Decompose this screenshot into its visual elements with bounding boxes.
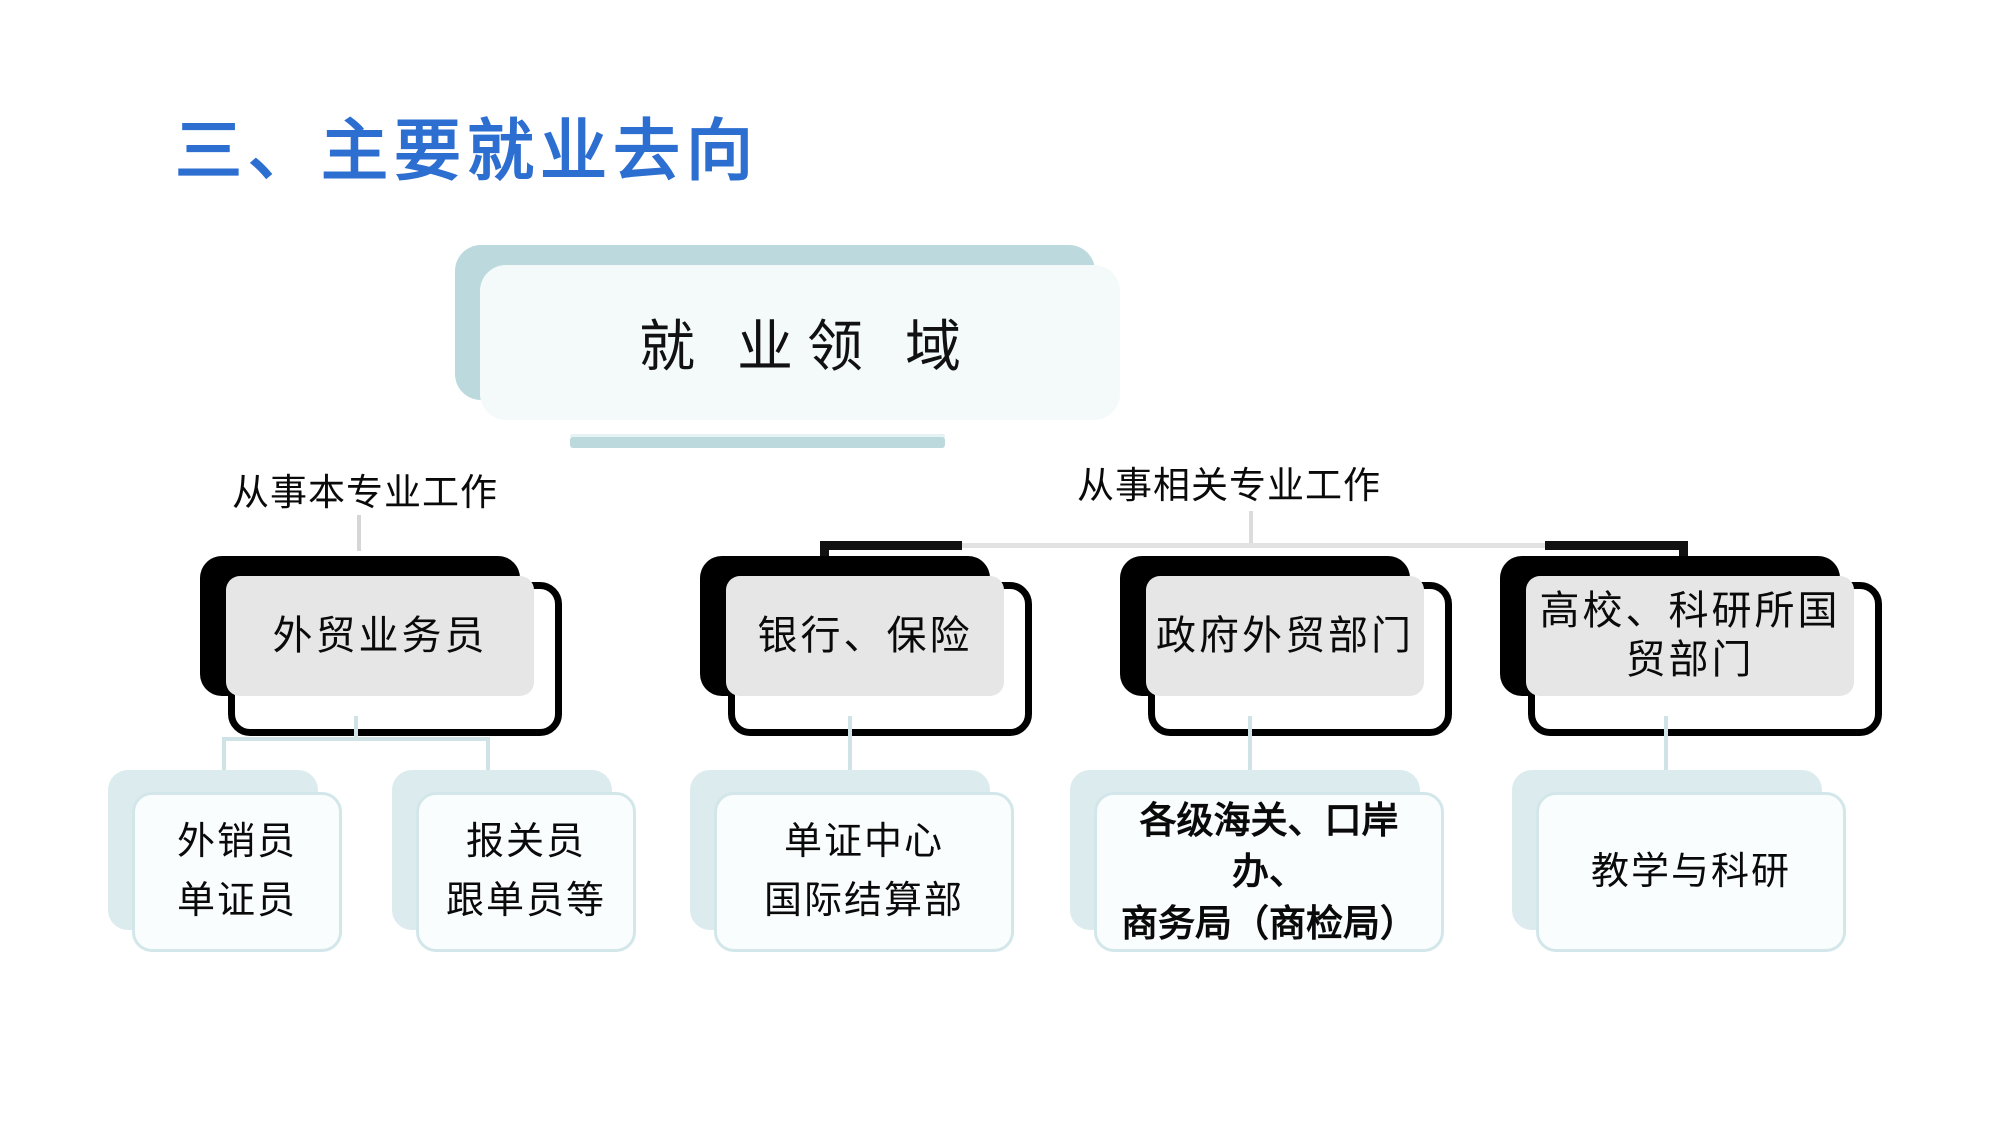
- tier2-box-body: 外销员 单证员: [132, 792, 342, 952]
- header-banner-label: 就 业领 域: [480, 265, 1120, 420]
- tier2-box-body: 单证中心 国际结算部: [714, 792, 1014, 952]
- tier2-box-body: 教学与科研: [1536, 792, 1846, 952]
- tier2-box-line1: 外销员: [177, 813, 297, 872]
- tier2-box-line1: 教学与科研: [1591, 843, 1791, 902]
- connector-drop-government: [1248, 716, 1252, 778]
- caption-related-major: 从事相关专业工作: [1077, 455, 1381, 509]
- tier2-box-line2: 国际结算部: [764, 872, 964, 931]
- connector-core-stem: [357, 515, 361, 551]
- connector-split-bar: [222, 737, 490, 741]
- slide-canvas: 三、主要就业去向 就 业领 域 从事本专业工作 从事相关专业工作 外贸业务员 银…: [0, 0, 2000, 1125]
- connector-bracket-left: [820, 541, 962, 550]
- page-title: 三、主要就业去向: [175, 97, 759, 194]
- connector-drop-bank: [848, 716, 852, 778]
- connector-related-stem: [1249, 511, 1253, 545]
- tier1-box-label: 银行、保险: [726, 576, 1004, 696]
- tier2-box-line1: 报关员: [446, 813, 606, 872]
- tier1-box-label: 政府外贸部门: [1146, 576, 1424, 696]
- tier2-box-line1: 各级海关、口岸办、: [1105, 795, 1433, 897]
- tier2-box-body: 报关员 跟单员等: [416, 792, 636, 952]
- tier2-box-line2: 单证员: [177, 872, 297, 931]
- caption-core-major: 从事本专业工作: [232, 462, 498, 516]
- connector-bracket-right: [1545, 541, 1688, 550]
- tier2-box-line2: 商务局（商检局）: [1105, 898, 1433, 949]
- connector-drop-university: [1664, 716, 1668, 778]
- tier2-box-line1: 单证中心: [764, 813, 964, 872]
- tier2-box-body: 各级海关、口岸办、 商务局（商检局）: [1094, 792, 1444, 952]
- tier1-box-label: 外贸业务员: [226, 576, 534, 696]
- tier1-box-label: 高校、科研所国贸部门: [1526, 576, 1854, 696]
- tier2-box-line2: 跟单员等: [446, 872, 606, 931]
- header-underline: [570, 437, 945, 448]
